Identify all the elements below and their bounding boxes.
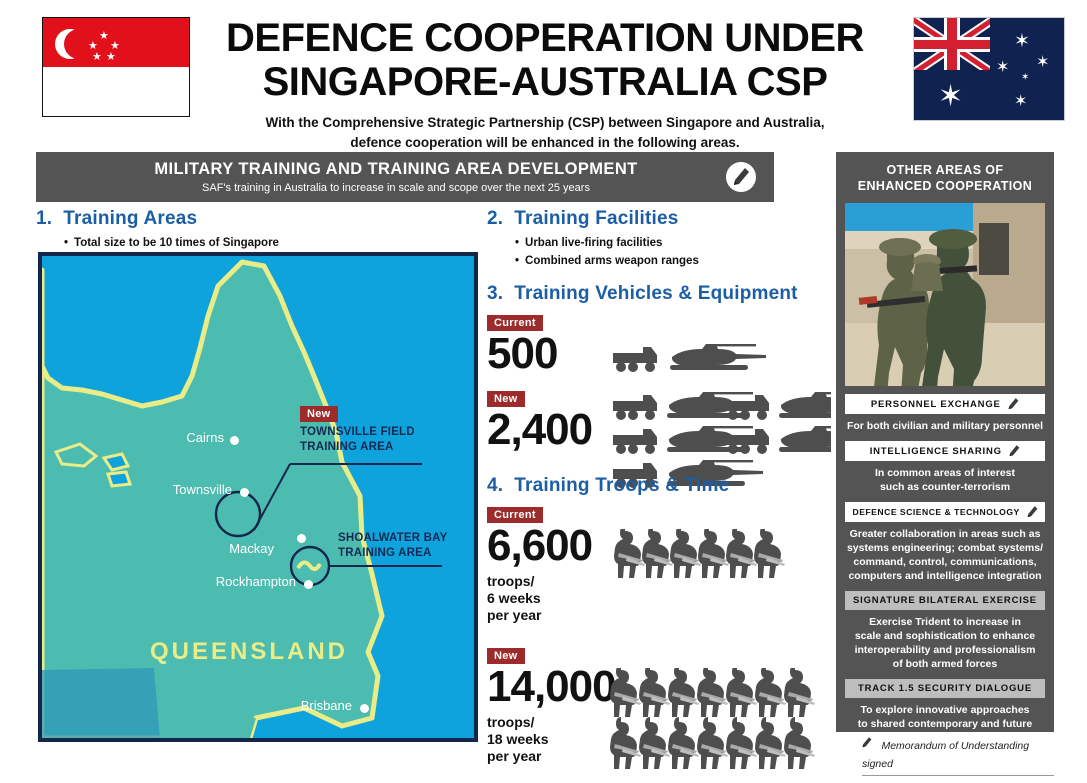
city-label-townsville: Townsville: [124, 482, 232, 497]
new-badge: New: [300, 406, 338, 422]
flag-au-star: ✶: [1021, 73, 1029, 83]
section4-number: 4.: [487, 475, 503, 497]
sidebar-item-label: DEFENCE SCIENCE & TECHNOLOGY: [852, 507, 1019, 517]
city-pin-rockhampton: [304, 580, 313, 589]
sidebar-item-defence-science-technology[interactable]: DEFENCE SCIENCE & TECHNOLOGY: [845, 502, 1045, 522]
flag-sg-star: ★: [99, 31, 109, 42]
flag-sg-star: ★: [92, 52, 102, 63]
sidebar-item-label: SIGNATURE BILATERAL EXERCISE: [853, 595, 1037, 606]
state-label-queensland: QUEENSLAND: [150, 638, 348, 666]
flag-au-star: ✶: [996, 60, 1009, 76]
section3-title: Training Vehicles & Equipment: [514, 283, 797, 304]
section1-number: 1.: [36, 208, 52, 230]
military-training-banner: MILITARY TRAINING AND TRAINING AREA DEVE…: [36, 152, 774, 202]
soldiers-training-photo: [845, 203, 1045, 386]
vehicles-new-stat: New 2,400: [487, 389, 832, 453]
soldier-icons-current: [613, 529, 813, 590]
section2-number: 2.: [487, 208, 503, 230]
city-pin-brisbane: [360, 704, 369, 713]
section-training-facilities: 2. Training Facilities Urban live-firing…: [487, 208, 827, 270]
section2-heading: 2. Training Facilities: [487, 208, 827, 230]
section1-title: Training Areas: [63, 208, 197, 229]
city-label-cairns: Cairns: [142, 430, 224, 445]
sidebar-item-label: PERSONNEL EXCHANGE: [871, 399, 1001, 410]
detail-line: per year: [487, 607, 832, 624]
footer-legend: Memorandum of Understanding signed: [862, 736, 1054, 776]
callout-shoalwater-line2: TRAINING AREA: [338, 546, 448, 561]
troops-current-stat: Current 6,600 troops/ 6 weeks per year: [487, 505, 832, 624]
banner-title: MILITARY TRAINING AND TRAINING AREA DEVE…: [66, 160, 726, 179]
section2-bullets: Urban live-firing facilities Combined ar…: [515, 234, 827, 270]
soldier-icons-new: [609, 668, 821, 783]
subtitle-line-2: defence cooperation will be enhanced in …: [200, 133, 890, 153]
list-item: Total size to be 10 times of Singapore: [64, 234, 486, 252]
flag-sg-star: ★: [106, 52, 116, 63]
city-label-mackay: Mackay: [194, 541, 274, 556]
truck-icon: [613, 347, 657, 372]
sidebar-heading-line1: OTHER AREAS OF: [845, 162, 1045, 178]
city-pin-cairns: [230, 436, 239, 445]
vehicles-current-stat: Current 500: [487, 313, 832, 377]
footer-note: Memorandum of Understanding signed: [862, 740, 1029, 770]
callout-townsville: New TOWNSVILLE FIELD TRAINING AREA: [300, 404, 415, 455]
title-line-2: SINGAPORE-AUSTRALIA CSP: [200, 60, 890, 104]
list-item: Urban live-firing facilities: [515, 234, 827, 252]
sidebar-item-description: For both civilian and military personnel: [845, 419, 1045, 433]
subtitle-line-1: With the Comprehensive Strategic Partner…: [200, 113, 890, 133]
australia-flag: ✶ ✶ ✶ ✶ ✶ ✶: [913, 17, 1065, 121]
section3-heading: 3. Training Vehicles & Equipment: [487, 283, 832, 305]
page-title: DEFENCE COOPERATION UNDER SINGAPORE-AUST…: [200, 16, 890, 153]
flag-au-commonwealth-star: ✶: [938, 82, 963, 112]
flag-au-star: ✶: [1014, 94, 1027, 110]
sidebar-item-track-15-security-dialogue[interactable]: TRACK 1.5 SECURITY DIALOGUE: [845, 679, 1045, 698]
section-training-vehicles: 3. Training Vehicles & Equipment Current…: [487, 283, 832, 453]
page-header: ★ ★ ★ ★ ★ DEFENCE COOPERATION UNDER SING…: [0, 0, 1087, 148]
sidebar-item-description: Greater collaboration in areas such assy…: [845, 527, 1045, 583]
flag-au-star: ✶: [1014, 32, 1030, 51]
flag-au-union-jack: [914, 18, 990, 70]
queensland-map: Cairns Townsville Mackay Rockhampton Bri…: [38, 252, 478, 742]
section2-title: Training Facilities: [514, 208, 678, 229]
detail-line: 6 weeks: [487, 590, 832, 607]
title-line-1: DEFENCE COOPERATION UNDER: [200, 16, 890, 60]
callout-shoalwater: SHOALWATER BAY TRAINING AREA: [338, 531, 448, 561]
vehicle-icons-current: [611, 341, 811, 380]
pencil-icon: [862, 736, 872, 749]
section-training-areas: 1. Training Areas Total size to be 10 ti…: [36, 208, 486, 252]
callout-townsville-line1: TOWNSVILLE FIELD: [300, 425, 415, 440]
troops-new-stat: New 14,000 troops/ 18 weeks per year: [487, 646, 832, 765]
city-pin-mackay-dot: [297, 534, 306, 543]
callout-townsville-line2: TRAINING AREA: [300, 440, 415, 455]
tank-icon: [670, 344, 766, 370]
section4-heading: 4. Training Troops & Time: [487, 475, 832, 497]
banner-subtitle: SAF's training in Australia to increase …: [66, 182, 726, 194]
pencil-icon: [1009, 445, 1020, 457]
section1-bullets: Total size to be 10 times of Singapore: [64, 234, 486, 252]
sidebar-item-label: INTELLIGENCE SHARING: [870, 446, 1002, 457]
sidebar-item-description: In common areas of interestsuch as count…: [845, 466, 1045, 494]
sidebar-heading: OTHER AREAS OF ENHANCED COOPERATION: [845, 162, 1045, 194]
sidebar-item-intelligence-sharing[interactable]: INTELLIGENCE SHARING: [845, 441, 1045, 461]
section4-title: Training Troops & Time: [514, 475, 729, 496]
sidebar-item-personnel-exchange[interactable]: PERSONNEL EXCHANGE: [845, 394, 1045, 414]
section-training-troops: 4. Training Troops & Time Current 6,600 …: [487, 475, 832, 765]
sidebar-item-signature-bilateral-exercise[interactable]: SIGNATURE BILATERAL EXERCISE: [845, 591, 1045, 610]
city-pin-townsville: [240, 488, 249, 497]
singapore-flag: ★ ★ ★ ★ ★: [42, 17, 190, 117]
sidebar-item-label: TRACK 1.5 SECURITY DIALOGUE: [858, 683, 1032, 694]
section1-heading: 1. Training Areas: [36, 208, 486, 230]
sidebar-other-areas: OTHER AREAS OF ENHANCED COOPERATION: [836, 152, 1054, 732]
sidebar-heading-line2: ENHANCED COOPERATION: [845, 178, 1045, 194]
section3-number: 3.: [487, 283, 503, 305]
pencil-icon: [726, 162, 756, 192]
flag-au-star: ✶: [1036, 55, 1049, 71]
pencil-icon: [1027, 506, 1038, 518]
list-item: Combined arms weapon ranges: [515, 252, 827, 270]
callout-shoalwater-line1: SHOALWATER BAY: [338, 531, 448, 546]
sidebar-item-description: Exercise Trident to increase inscale and…: [845, 615, 1045, 671]
city-label-rockhampton: Rockhampton: [152, 574, 296, 589]
pencil-icon: [1008, 398, 1019, 410]
city-label-brisbane: Brisbane: [238, 698, 352, 713]
